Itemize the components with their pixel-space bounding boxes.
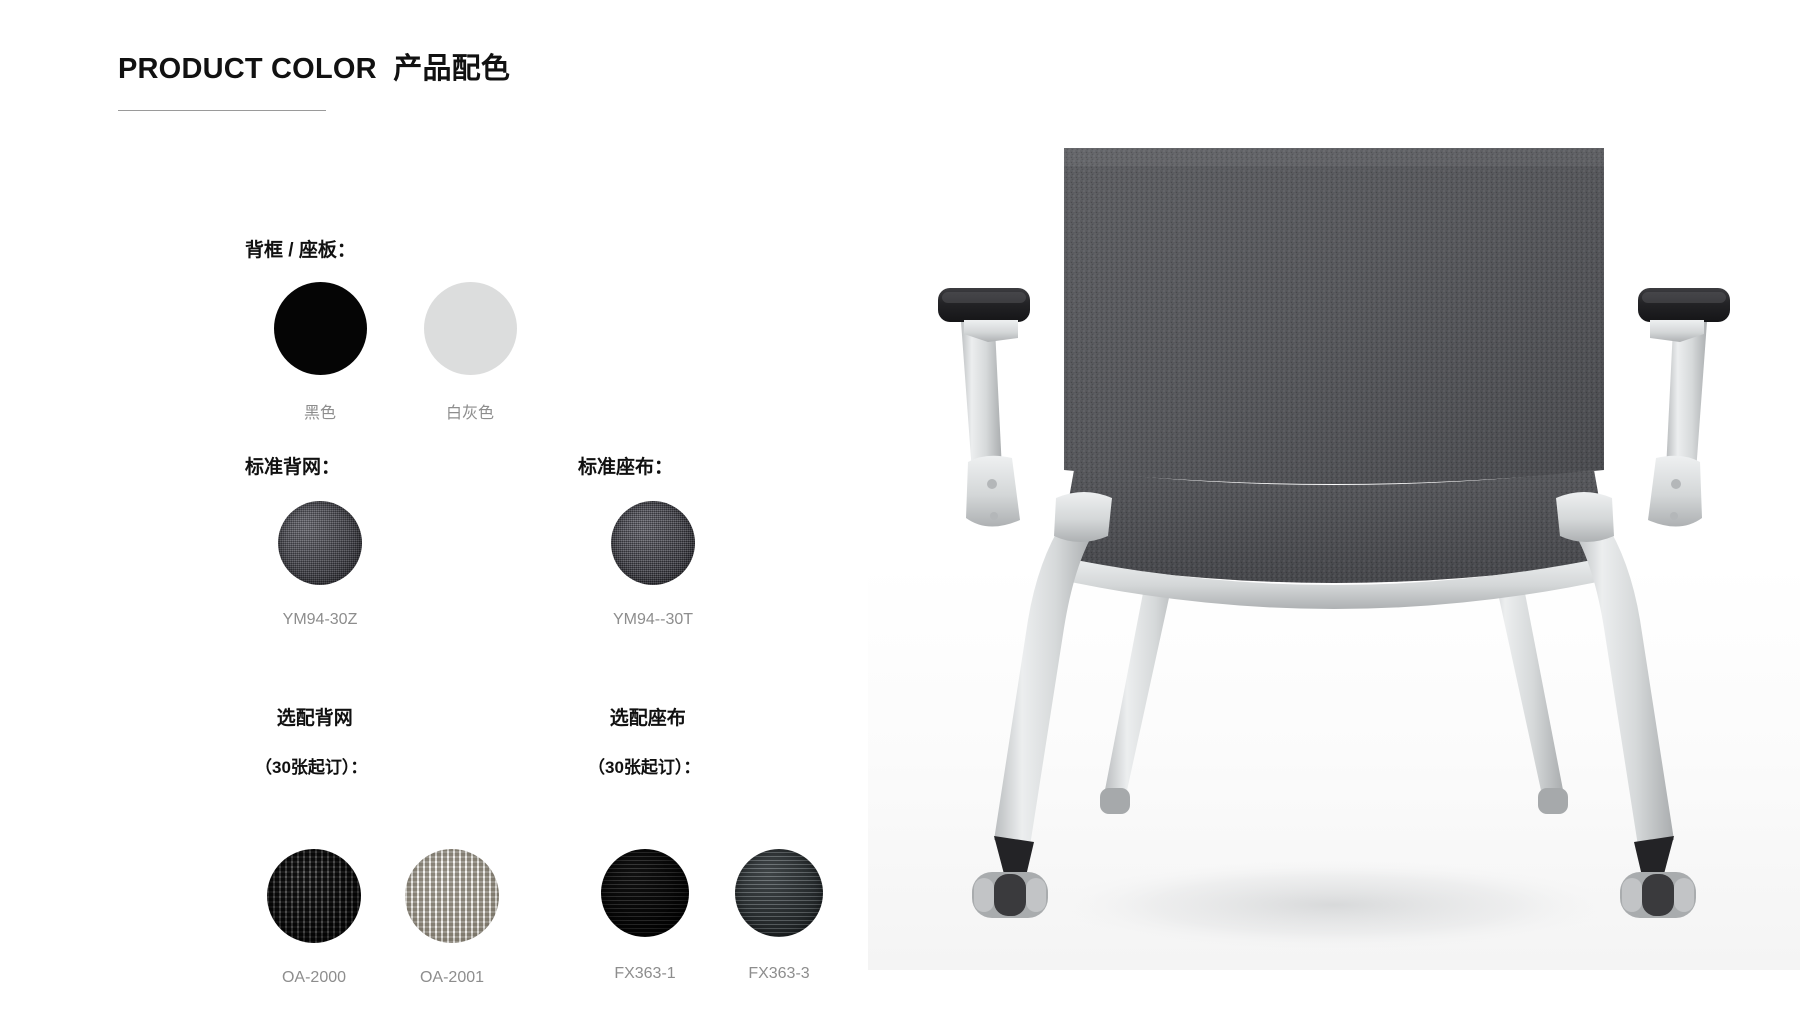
swatch-item-ym94-30z[interactable]: YM94-30Z	[245, 501, 395, 629]
group-label-optional-back-mesh-main: 选配背网	[277, 708, 353, 729]
caster-right	[1620, 872, 1696, 918]
swatch-caption-fx363-1: FX363-1	[614, 965, 675, 983]
swatch-caption-oa-2000: OA-2000	[282, 969, 346, 987]
group-label-optional-back-mesh: 选配背网 （30张起订）：	[245, 680, 521, 831]
group-label-optional-seat-fabric-main: 选配座布	[610, 708, 686, 729]
swatch-row-optional-back-mesh: OA-2000 OA-2001	[245, 849, 521, 987]
color-swatch-panel: 背框 / 座板： 黑色 白灰色 标准背网： YM94-30Z 标准座布：	[0, 0, 880, 1013]
swatch-caption-fx363-3: FX363-3	[748, 965, 809, 983]
swatch-item-fx363-1[interactable]: FX363-1	[578, 849, 712, 983]
swatch-item-fx363-3[interactable]: FX363-3	[712, 849, 846, 983]
swatch-dot-ym94-30t[interactable]	[611, 501, 695, 585]
swatch-dot-fx363-1[interactable]	[601, 849, 689, 937]
group-label-standard-seat-fabric: 标准座布：	[578, 455, 728, 481]
swatch-caption-black: 黑色	[304, 399, 336, 423]
color-group-standard-seat-fabric: 标准座布： YM94--30T	[578, 455, 728, 629]
color-group-optional-back-mesh: 选配背网 （30张起订）： OA-2000 OA-2001	[245, 680, 521, 987]
swatch-item-ym94-30t[interactable]: YM94--30T	[578, 501, 728, 629]
product-photo-office-chair	[868, 0, 1800, 970]
swatch-dot-oa-2001[interactable]	[405, 849, 499, 943]
swatch-item-white-grey[interactable]: 白灰色	[395, 282, 545, 423]
color-group-frame-seatboard: 背框 / 座板： 黑色 白灰色	[245, 238, 545, 423]
swatch-item-oa-2001[interactable]: OA-2001	[383, 849, 521, 987]
swatch-dot-black[interactable]	[274, 282, 367, 375]
swatch-caption-oa-2001: OA-2001	[420, 969, 484, 987]
swatch-row-frame-seatboard: 黑色 白灰色	[245, 282, 545, 423]
office-chair-illustration	[868, 0, 1800, 970]
color-group-optional-seat-fabric: 选配座布 （30张起订）： FX363-1 FX363-3	[578, 680, 846, 983]
color-group-standard-back-mesh: 标准背网： YM94-30Z	[245, 455, 395, 629]
swatch-dot-ym94-30z[interactable]	[278, 501, 362, 585]
swatch-dot-oa-2000[interactable]	[267, 849, 361, 943]
swatch-row-standard-back-mesh: YM94-30Z	[245, 501, 395, 629]
group-label-optional-seat-fabric-sub: （30张起订）：	[578, 757, 846, 780]
swatch-row-standard-seat-fabric: YM94--30T	[578, 501, 728, 629]
group-label-standard-back-mesh: 标准背网：	[245, 455, 395, 481]
swatch-caption-ym94-30t: YM94--30T	[613, 611, 693, 629]
swatch-caption-white-grey: 白灰色	[446, 399, 494, 423]
group-label-optional-back-mesh-sub: （30张起订）：	[245, 757, 521, 780]
swatch-item-black[interactable]: 黑色	[245, 282, 395, 423]
swatch-dot-white-grey[interactable]	[424, 282, 517, 375]
swatch-dot-fx363-3[interactable]	[735, 849, 823, 937]
swatch-item-oa-2000[interactable]: OA-2000	[245, 849, 383, 987]
group-label-frame-seatboard: 背框 / 座板：	[245, 238, 545, 264]
swatch-caption-ym94-30z: YM94-30Z	[283, 611, 358, 629]
swatch-row-optional-seat-fabric: FX363-1 FX363-3	[578, 849, 846, 983]
caster-left	[972, 872, 1048, 918]
group-label-optional-seat-fabric: 选配座布 （30张起订）：	[578, 680, 846, 831]
